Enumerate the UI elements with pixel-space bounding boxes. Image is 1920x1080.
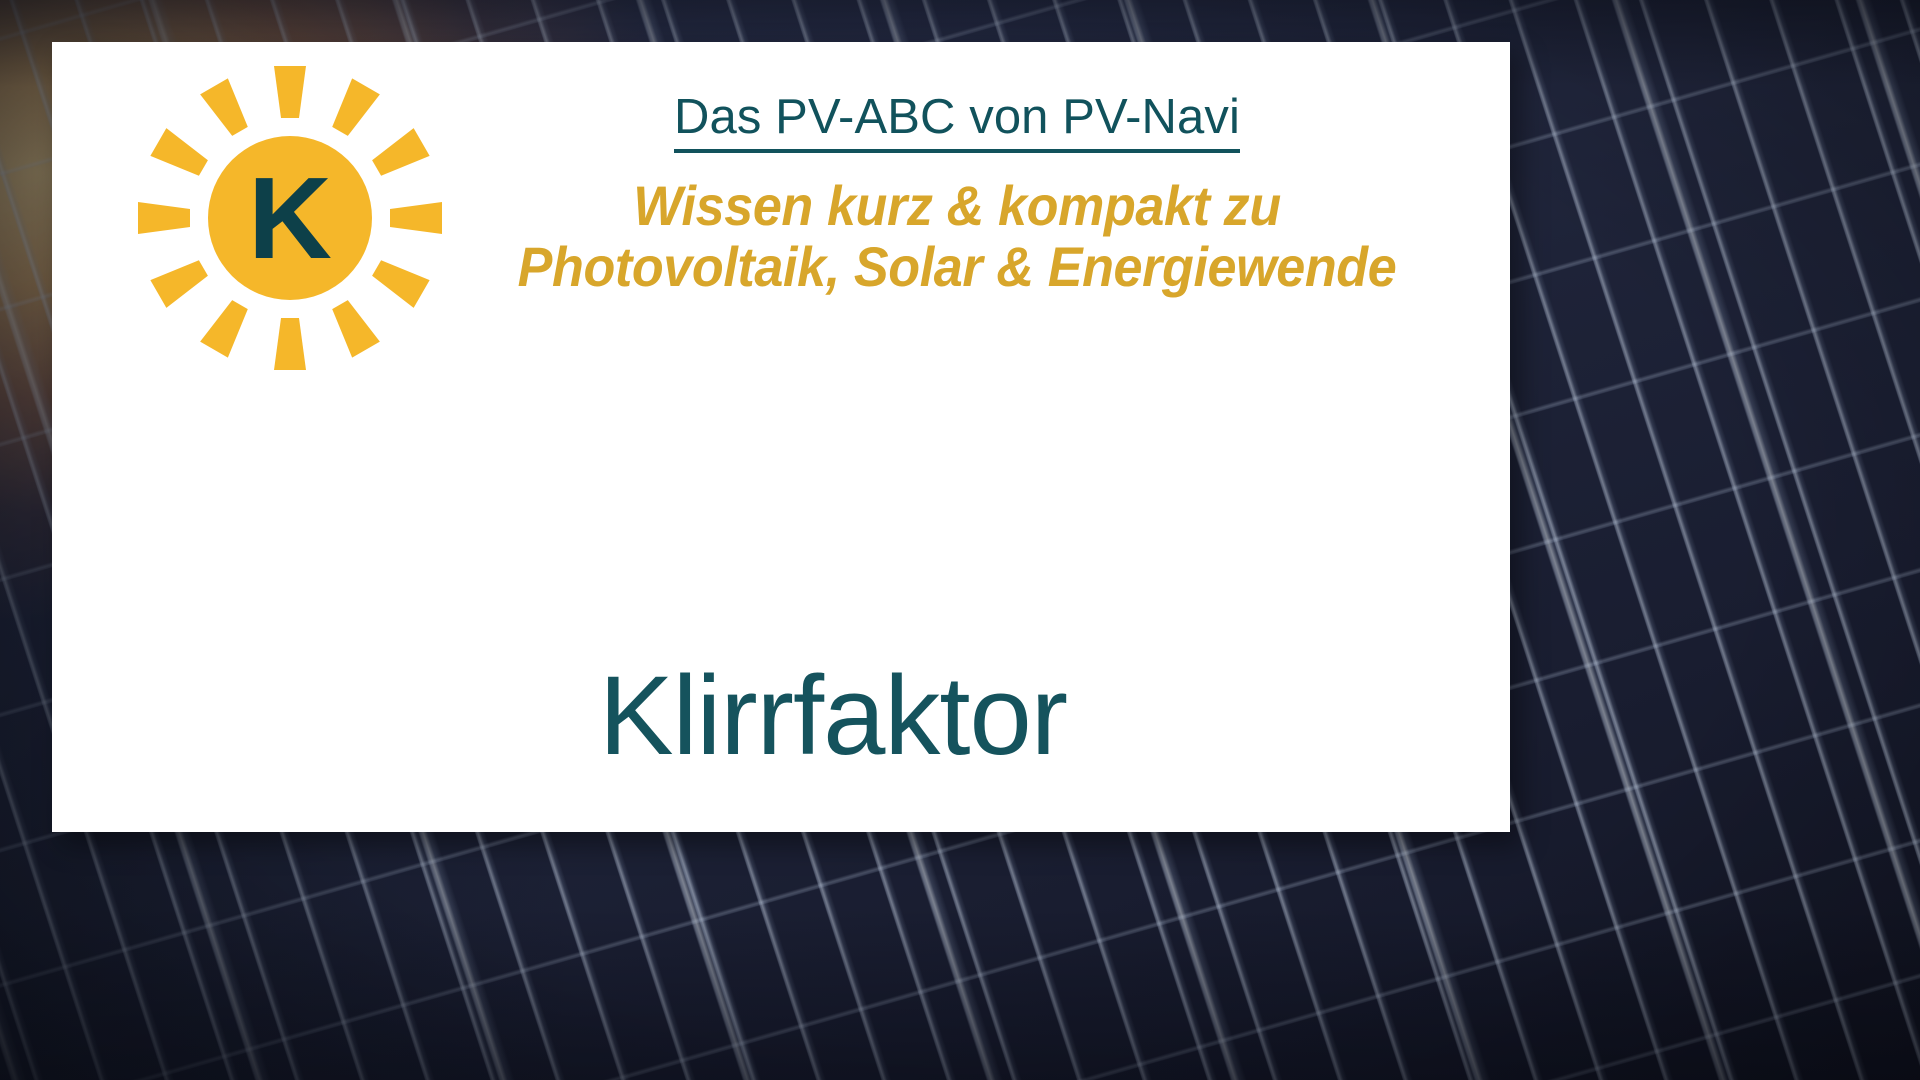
tagline-line-1: Wissen kurz & kompakt zu	[469, 175, 1446, 236]
content-card: K Das PV-ABC von PV-Navi Wissen kurz & k…	[52, 42, 1510, 832]
sun-logo: K	[130, 58, 450, 378]
glossary-term: Klirrfaktor	[104, 660, 1562, 772]
sun-logo-letter: K	[248, 153, 332, 283]
tagline-line-2: Photovoltaik, Solar & Energiewende	[469, 236, 1446, 297]
header-text-block: Das PV-ABC von PV-Navi Wissen kurz & kom…	[432, 90, 1482, 297]
page-title: Das PV-ABC von PV-Navi	[674, 90, 1240, 153]
slide-canvas: K Das PV-ABC von PV-Navi Wissen kurz & k…	[0, 0, 1920, 1080]
tagline: Wissen kurz & kompakt zu Photovoltaik, S…	[469, 175, 1446, 297]
